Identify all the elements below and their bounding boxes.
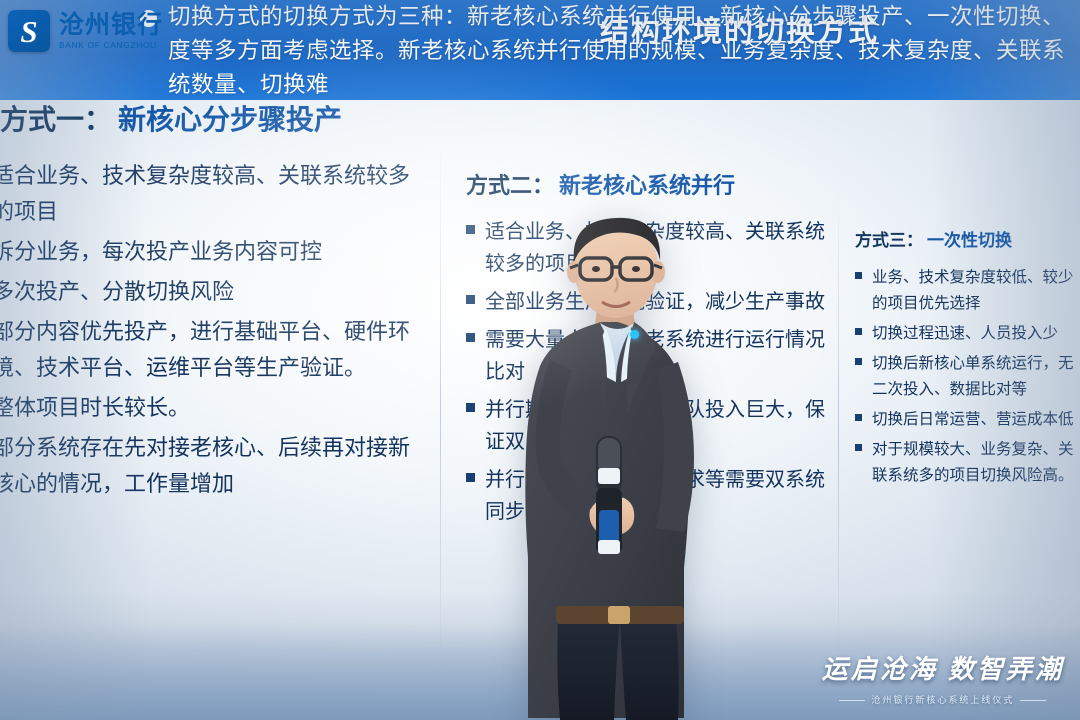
column-1-title: 方式一 ： 新核心分步骤投产	[0, 98, 422, 138]
bullet-text: 多次投产、分散切换风险	[0, 274, 234, 310]
event-logo-subtitle: 沧州银行新核心系统上线仪式	[822, 693, 1064, 706]
bank-logo-mark-icon: S	[8, 10, 50, 52]
bullet-text: 拆分业务，每次投产业务内容可控	[0, 234, 322, 270]
column-3-bullets: 业务、技术复杂度较低、较少的项目优先选择 切换过程迅速、人员投入少 切换后新核心…	[855, 265, 1080, 489]
bullet-text: 部分内容优先投产，进行基础平台、硬件环境、技术平台、运维平台等生产验证。	[0, 314, 422, 386]
speaker-person	[470, 210, 760, 720]
column-divider-2	[838, 190, 839, 670]
column-2-number: 方式二	[466, 168, 532, 200]
list-item: 多次投产、分散切换风险	[0, 274, 422, 310]
column-divider-1	[440, 140, 441, 680]
speaker-illustration	[470, 210, 760, 720]
list-item: 切换后日常运营、营运成本低	[855, 407, 1080, 433]
bullet-square-icon	[855, 328, 862, 335]
bullet-text: 适合业务、技术复杂度较高、关联系统较多的项目	[0, 158, 422, 230]
column-2-title: 方式二 ： 新老核心系统并行	[466, 168, 826, 200]
event-logo-subtitle-text: 沧州银行新核心系统上线仪式	[871, 695, 1014, 705]
bullet-square-icon	[855, 444, 862, 451]
list-item: 部分内容优先投产，进行基础平台、硬件环境、技术平台、运维平台等生产验证。	[0, 314, 422, 386]
column-3-number: 方式三	[855, 226, 906, 251]
event-logo: 运启沧海 数智弄潮 沧州银行新核心系统上线仪式	[822, 649, 1064, 706]
bullet-square-icon	[855, 272, 862, 279]
event-logo-rule-right	[1020, 700, 1046, 701]
bank-logo-letter: S	[8, 10, 50, 52]
event-logo-title: 运启沧海 数智弄潮	[822, 649, 1064, 686]
list-item: 整体项目时长较长。	[0, 390, 422, 426]
bullet-square-icon	[855, 358, 862, 365]
event-logo-rule-left	[839, 700, 865, 701]
bank-name-en: BANK OF CANGZHOU	[59, 41, 163, 50]
bullet-text: 整体项目时长较长。	[0, 390, 190, 426]
bullet-text: 业务、技术复杂度较低、较少的项目优先选择	[872, 265, 1080, 317]
microphone-indicator-light	[630, 330, 639, 339]
bank-logo: S 沧州银行 BANK OF CANGZHOU	[8, 10, 163, 52]
column-1-bullets: 适合业务、技术复杂度较高、关联系统较多的项目 拆分业务，每次投产业务内容可控 多…	[0, 158, 422, 502]
bullet-text: 部分系统存在先对接老核心、后续再对接新核心的情况，工作量增加	[0, 430, 422, 502]
column-3-name: 一次性切换	[927, 226, 1012, 251]
list-item: 部分系统存在先对接老核心、后续再对接新核心的情况，工作量增加	[0, 430, 422, 502]
presentation-photo: 结构环境的切换方式 切换方式的切换方式为三种：新老核心系统并行使用、新核心分步骤…	[0, 0, 1080, 720]
column-3-separator: ：	[906, 226, 923, 251]
bullet-text: 切换后新核心单系统运行，无二次投入、数据比对等	[872, 351, 1080, 403]
bullet-text: 切换后日常运营、营运成本低	[872, 407, 1074, 433]
bullet-text: 对于规模较大、业务复杂、关联系统多的项目切换风险高。	[872, 437, 1080, 489]
list-item: 拆分业务，每次投产业务内容可控	[0, 234, 422, 270]
list-item: 适合业务、技术复杂度较高、关联系统较多的项目	[0, 158, 422, 230]
column-1-name: 新核心分步骤投产	[118, 98, 342, 138]
slide-column-3: 方式三 ： 一次性切换 业务、技术复杂度较低、较少的项目优先选择 切换过程迅速、…	[855, 226, 1080, 493]
column-1-number: 方式一	[0, 98, 84, 138]
column-1-separator: ：	[84, 98, 112, 138]
list-item: 切换过程迅速、人员投入少	[855, 321, 1080, 347]
bank-name-cn: 沧州银行	[59, 13, 163, 38]
bullet-text: 切换过程迅速、人员投入少	[872, 321, 1058, 347]
slide-header-text: 切换方式的切换方式为三种：新老核心系统并行使用、新核心分步骤投产、一次性切换、度…	[168, 0, 1078, 102]
bank-logo-text: 沧州银行 BANK OF CANGZHOU	[59, 13, 163, 50]
list-item: 切换后新核心单系统运行，无二次投入、数据比对等	[855, 351, 1080, 403]
column-3-title: 方式三 ： 一次性切换	[855, 226, 1080, 251]
bullet-square-icon	[855, 414, 862, 421]
list-item: 对于规模较大、业务复杂、关联系统多的项目切换风险高。	[855, 437, 1080, 489]
column-2-separator: ：	[532, 168, 554, 200]
slide-column-1: 方式一 ： 新核心分步骤投产 适合业务、技术复杂度较高、关联系统较多的项目 拆分…	[0, 98, 422, 506]
list-item: 业务、技术复杂度较低、较少的项目优先选择	[855, 265, 1080, 317]
column-2-name: 新老核心系统并行	[559, 168, 735, 200]
